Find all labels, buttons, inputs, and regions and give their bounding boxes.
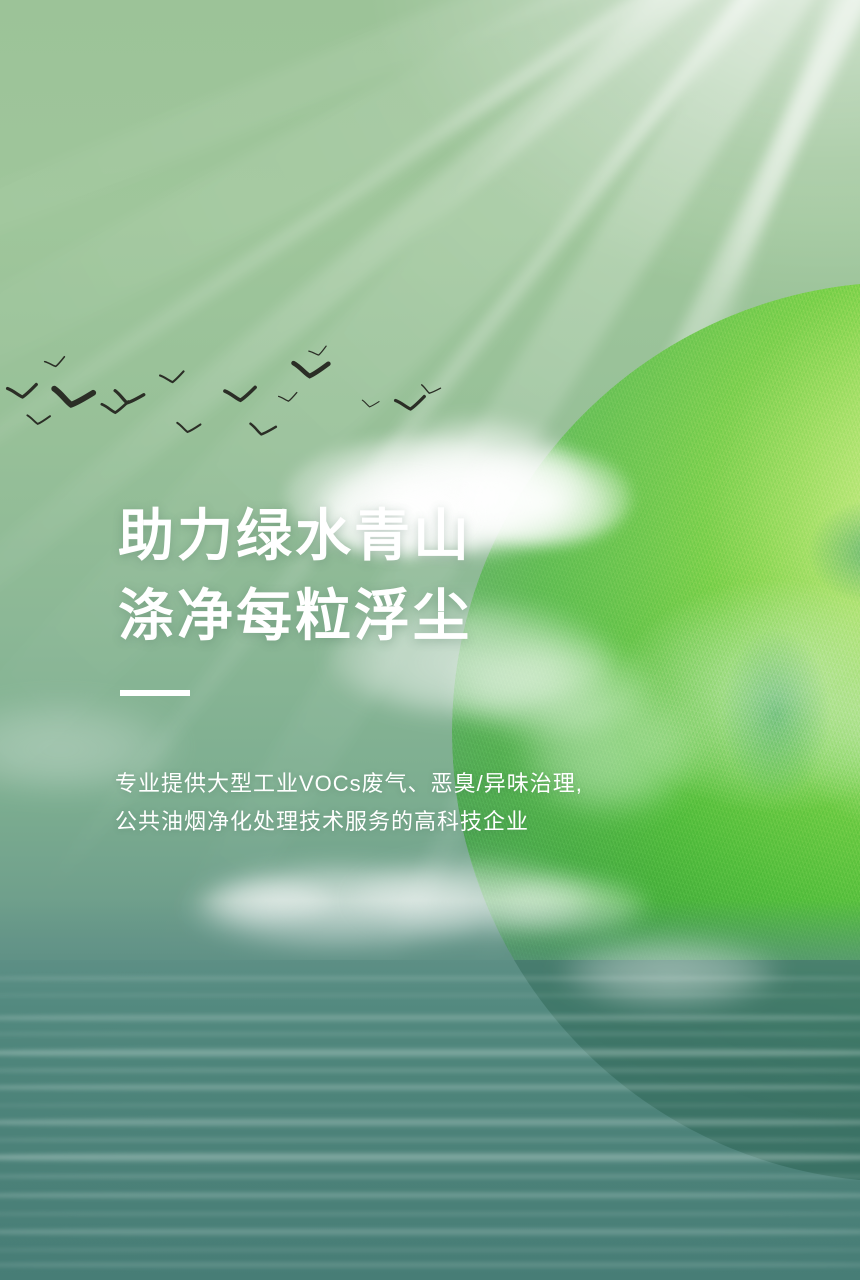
subtitle-line-1: 专业提供大型工业VOCs废气、恶臭/异味治理, xyxy=(115,765,583,803)
title-divider xyxy=(120,690,190,696)
eco-poster: 助力绿水青山 涤净每粒浮尘 专业提供大型工业VOCs废气、恶臭/异味治理, 公共… xyxy=(0,0,860,1280)
headline-line-2: 涤净每粒浮尘 xyxy=(118,576,472,656)
headline-line-1: 助力绿水青山 xyxy=(118,496,472,576)
page-title: 助力绿水青山 涤净每粒浮尘 xyxy=(118,496,472,656)
subtitle-line-2: 公共油烟净化处理技术服务的高科技企业 xyxy=(115,803,583,841)
subtitle: 专业提供大型工业VOCs废气、恶臭/异味治理, 公共油烟净化处理技术服务的高科技… xyxy=(115,765,583,841)
